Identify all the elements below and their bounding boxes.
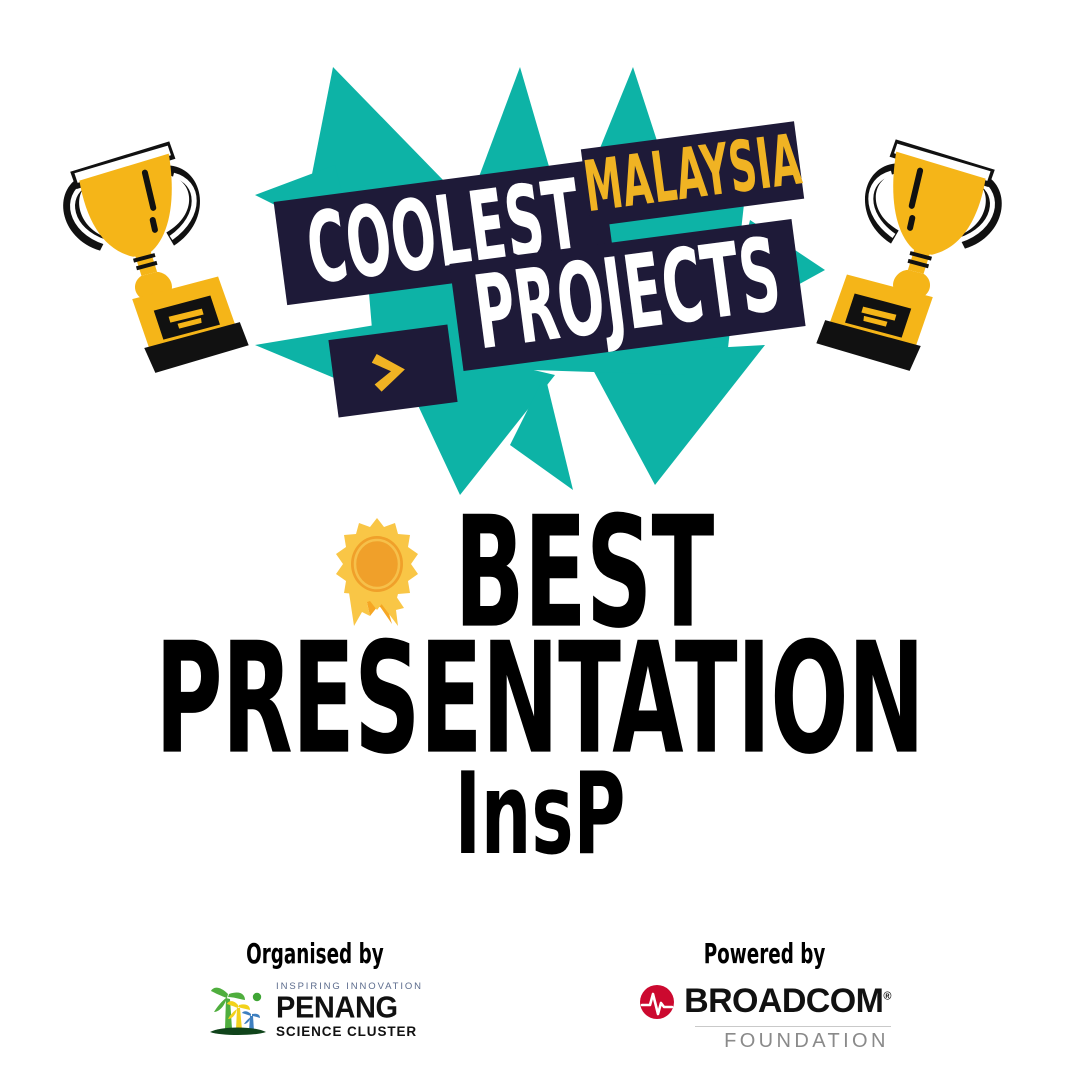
penang-science-cluster-logo: INSPIRING INNOVATION PENANG SCIENCE CLUS… <box>207 982 423 1038</box>
broadcom-foundation-logo: BROADCOM® FOUNDATION <box>639 982 891 1053</box>
trophy-icon-left <box>39 109 270 401</box>
broadcom-subname: FOUNDATION <box>724 1030 889 1053</box>
coolest-projects-logo: COOLEST MALAYSIA PROJECTS <box>255 45 825 510</box>
powered-by-block: Powered by BROADCOM® FOUNDATION <box>615 940 915 1053</box>
registered-mark: ® <box>883 991 891 1003</box>
broadcom-pulse-icon <box>639 984 675 1020</box>
broadcom-row: BROADCOM® <box>639 982 891 1021</box>
broadcom-name: BROADCOM® <box>684 982 891 1021</box>
project-name: InsP <box>97 761 983 869</box>
award-title-line-2: PRESENTATION <box>0 642 1080 757</box>
chevron-right-icon <box>328 325 457 418</box>
organised-by-block: Organised by <box>165 940 465 1038</box>
powered-by-label: Powered by <box>704 938 826 970</box>
poster-canvas: COOLEST MALAYSIA PROJECTS <box>0 0 1080 1080</box>
divider <box>695 1026 891 1027</box>
trophy-icon-right <box>794 107 1025 399</box>
footer-credits: Organised by <box>0 940 1080 1080</box>
award-headline: BEST PRESENTATION InsP <box>0 512 1080 860</box>
penang-wordmark: INSPIRING INNOVATION PENANG SCIENCE CLUS… <box>276 982 423 1038</box>
penang-name: PENANG <box>276 993 423 1024</box>
broadcom-name-text: BROADCOM <box>684 982 883 1020</box>
organised-by-label: Organised by <box>246 938 384 970</box>
penang-subname: SCIENCE CLUSTER <box>276 1025 423 1039</box>
wind-turbines-icon <box>207 984 269 1036</box>
